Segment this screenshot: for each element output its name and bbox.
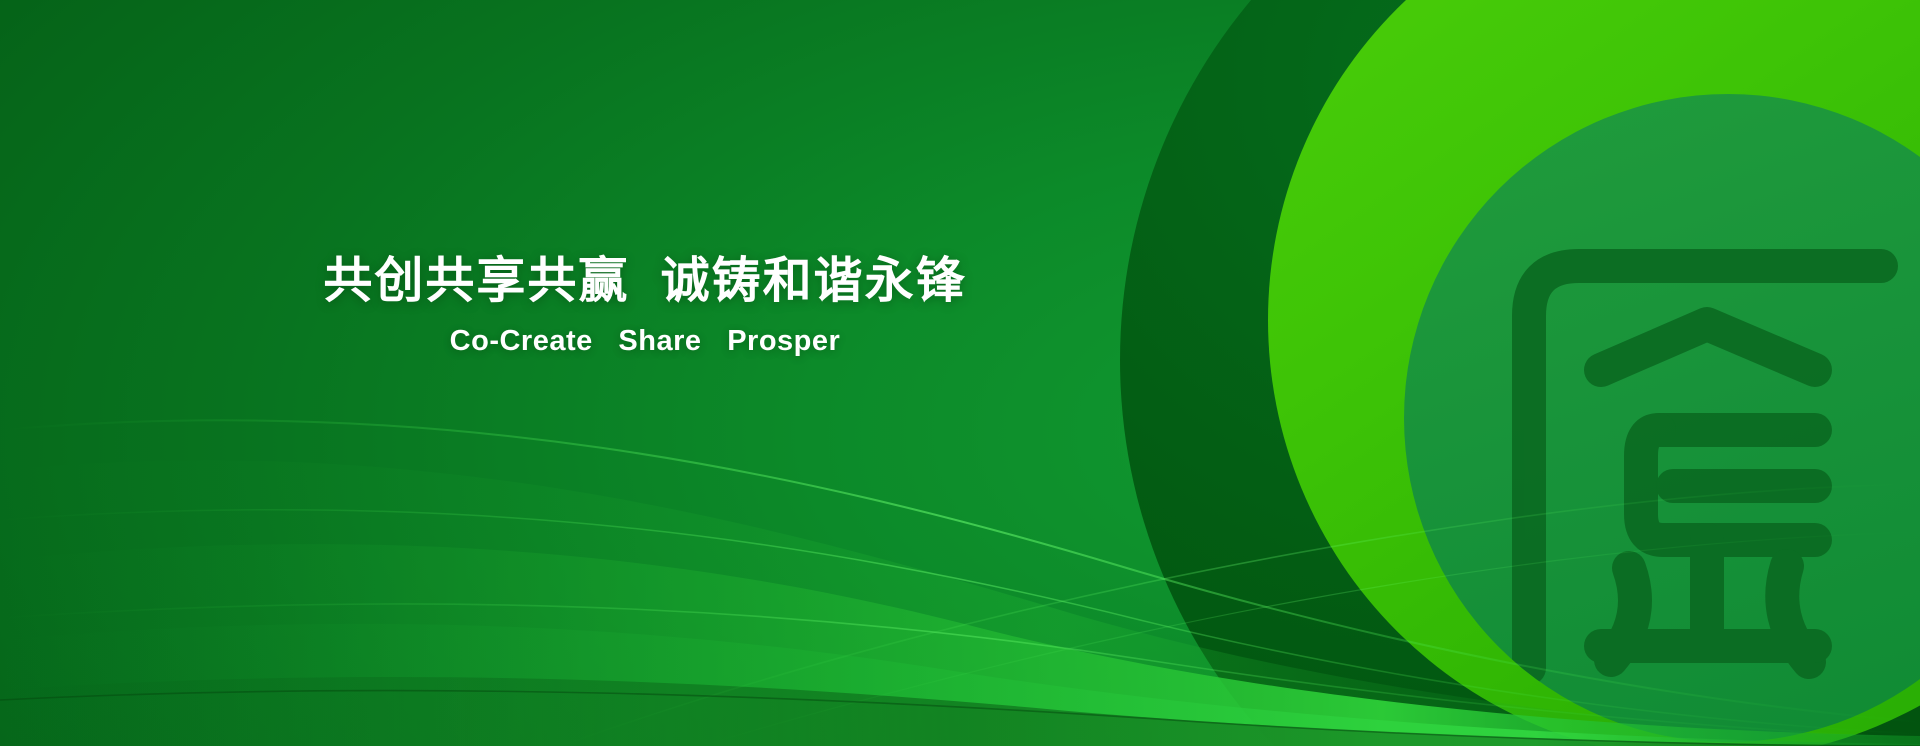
banner-subtitle: Co-Create Share Prosper — [0, 325, 1290, 358]
company-logo-watermark — [1404, 94, 1920, 742]
hero-banner: 共创共享共赢 诚铸和谐永锋 Co-Create Share Prosper — [0, 0, 1920, 746]
slogan-block: 共创共享共赢 诚铸和谐永锋 Co-Create Share Prosper — [0, 252, 1290, 358]
banner-headline: 共创共享共赢 诚铸和谐永锋 — [0, 252, 1290, 311]
